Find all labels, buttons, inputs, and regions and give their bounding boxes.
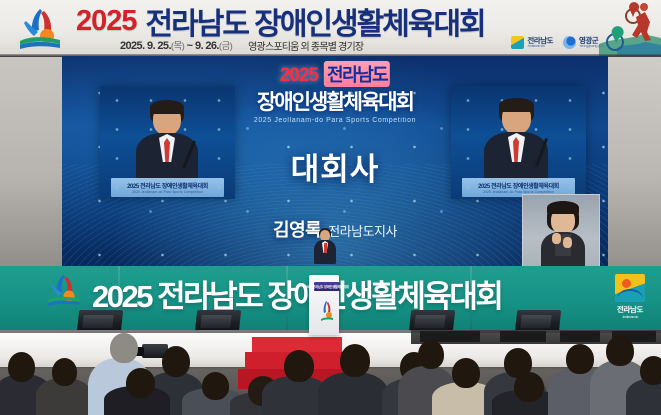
- photo-scene: 2025 전라남도 장애인생활체육대회 2025. 9. 25.(목) ~ 9.…: [0, 0, 661, 415]
- backdrop-emblem-icon: [44, 272, 84, 308]
- logo-jeollanamdo-sub: Jeollanamdo: [527, 44, 553, 48]
- podium-box: 2025 전라남도 장애인생활체육대회: [309, 275, 339, 335]
- event-emblem-icon: [14, 5, 68, 51]
- video-panel-left: 2025 전라남도 장애인생활체육대회 2025 Jeollanam-do Pa…: [100, 86, 235, 199]
- backdrop-logo-label: 전라남도: [617, 305, 643, 314]
- video-panel-right: 2025 전라남도 장애인생활체육대회 2025 Jeollanam-do Pa…: [451, 86, 586, 199]
- event-date-start-day: (목): [171, 41, 184, 52]
- moving-head-light: [36, 306, 57, 329]
- event-date-end-day: (금): [219, 41, 232, 52]
- event-date-start: 2025. 9. 25.: [120, 40, 171, 52]
- moving-head-light: [372, 305, 393, 328]
- moving-head-light: [254, 305, 275, 328]
- podium-emblem-icon: [319, 299, 335, 327]
- led-title-region: 전라남도: [324, 61, 390, 87]
- hall-wall-left: [0, 56, 62, 274]
- video-caption-left: 2025 전라남도 장애인생활체육대회 2025 Jeollanam-do Pa…: [111, 178, 224, 197]
- logo-jeollanamdo: 전라남도 Jeollanamdo: [511, 36, 553, 49]
- led-title-block: 2025 전라남도 장애인생활체육대회 2025 Jeollanam-do Pa…: [254, 61, 416, 124]
- hall-wall-right: [608, 56, 661, 274]
- led-title-english: 2025 Jeollanam-do Para Sports Competitio…: [254, 117, 416, 124]
- hall-banner-year: 2025: [76, 5, 137, 38]
- event-date-end: 9. 26.: [195, 40, 219, 52]
- logo-yeonggwang: 영광군 Yeonggwang-gun: [563, 36, 603, 49]
- hall-banner-subline: 2025. 9. 25.(목) ~ 9. 26.(금) 영광스포티움 외 종목별…: [120, 37, 540, 53]
- video-caption-left-en: 2025 Jeollanam-do Para Sports Competitio…: [132, 190, 203, 194]
- video-caption-left-kr: 2025 전라남도 장애인생활체육대회: [127, 181, 208, 190]
- truss-equipment-box: [500, 331, 546, 342]
- truss-equipment-box: [560, 331, 600, 342]
- jeollanamdo-mark-icon: [615, 274, 645, 302]
- hall-banner: 2025 전라남도 장애인생활체육대회 2025. 9. 25.(목) ~ 9.…: [0, 0, 661, 57]
- backdrop-logo-sub: Jeollanamdo: [609, 315, 651, 319]
- event-venue: 영광스포티움 외 종목별 경기장: [248, 38, 363, 53]
- live-speaker-figure: [314, 228, 336, 276]
- podium-sign-text: 2025 전라남도 장애인생활체육대회: [305, 284, 348, 289]
- podium-sign: 2025 전라남도 장애인생활체육대회: [314, 282, 340, 291]
- event-date: 2025. 9. 25.(목) ~ 9. 26.(금): [120, 38, 232, 52]
- event-date-separator: ~: [187, 40, 193, 52]
- led-headline: 대회사: [291, 144, 380, 189]
- yeonggwang-logo-icon: [563, 36, 576, 49]
- hall-banner-title: 2025 전라남도 장애인생활체육대회: [76, 3, 576, 39]
- backdrop-jeollanamdo-logo: 전라남도 Jeollanamdo: [609, 274, 651, 324]
- podium: 2025 전라남도 장애인생활체육대회: [306, 253, 342, 335]
- led-title-main: 장애인생활체육대회: [254, 86, 416, 116]
- video-caption-right-kr: 2025 전라남도 장애인생활체육대회: [478, 181, 559, 190]
- moving-head-light: [566, 306, 587, 329]
- led-speaker-role: 전라남도지사: [328, 221, 397, 240]
- sponsor-logos: 전라남도 Jeollanamdo 영광군 Yeonggwang-gun: [511, 36, 603, 49]
- sign-language-interpreter-inset: [522, 194, 600, 268]
- moving-head-light: [470, 305, 491, 328]
- led-title-year: 2025: [280, 65, 318, 87]
- para-athletes-illustration-icon: [599, 0, 661, 56]
- moving-head-light: [126, 306, 147, 329]
- jeollanamdo-logo-icon: [511, 36, 524, 49]
